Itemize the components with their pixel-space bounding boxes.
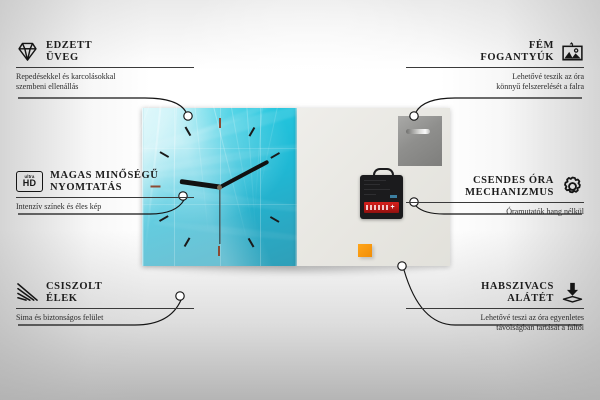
feature-subtitle-line2: távolságban tartását a faltól xyxy=(496,323,584,332)
picture-hanger-icon xyxy=(561,40,584,63)
feature-title-line1: MAGAS MINŐSÉGŰ xyxy=(50,170,158,181)
feature-metal-handles: FÉM FOGANTYÚK Lehetővé teszik az óra kön… xyxy=(406,40,584,92)
feature-foam-pad: HABSZIVACS ALÁTÉT Lehetővé teszi az óra … xyxy=(406,281,584,333)
feature-subtitle-line1: Lehetővé teszik az óra xyxy=(512,72,584,81)
metal-hanger-plate xyxy=(398,116,442,166)
feature-polished-edges: CSISZOLT ÉLEK Sima és biztonságos felüle… xyxy=(16,281,194,323)
feature-title-line2: MECHANIZMUS xyxy=(465,187,554,198)
feature-title-line1: EDZETT xyxy=(46,40,92,51)
feature-divider xyxy=(406,308,584,309)
feature-subtitle-line1: Óramutatók hang nélkül xyxy=(506,207,584,216)
feature-subtitle-line2: szembeni ellenállás xyxy=(16,82,78,91)
hanger-slot xyxy=(406,129,430,134)
badge-text-large: HD xyxy=(23,179,37,189)
battery: + xyxy=(364,202,399,213)
feature-title-line1: FÉM xyxy=(529,40,554,51)
feature-title-line1: HABSZIVACS xyxy=(481,281,554,292)
feature-quiet-mechanism: CSENDES ÓRA MECHANIZMUS Óramutatók hang … xyxy=(406,175,584,217)
feature-subtitle-line1: Intenzív színek és éles kép xyxy=(16,202,101,211)
foam-pad xyxy=(358,244,372,257)
feature-title-line2: ÜVEG xyxy=(46,52,79,63)
diamond-icon xyxy=(16,40,39,63)
feature-subtitle-line1: Lehetővé teszi az óra egyenletes xyxy=(481,313,585,322)
clock-center-cap xyxy=(217,185,222,190)
clock-sec-hand xyxy=(219,187,220,244)
feature-title-line2: ALÁTÉT xyxy=(507,293,554,304)
gear-icon xyxy=(561,175,584,198)
ultra-hd-badge-icon: ultra HD xyxy=(16,171,43,192)
foam-pad-arrow-icon xyxy=(561,281,584,304)
feature-subtitle-line1: Sima és biztonságos felület xyxy=(16,313,103,322)
feature-divider xyxy=(16,308,194,309)
feature-divider xyxy=(406,202,584,203)
feature-subtitle-line1: Repedésekkel és karcolásokkal xyxy=(16,72,116,81)
feature-tempered-glass: EDZETT ÜVEG Repedésekkel és karcolásokka… xyxy=(16,40,194,92)
clock-mechanism-box: + xyxy=(360,175,403,219)
feature-title-line1: CSISZOLT xyxy=(46,281,102,292)
feature-title-line1: CSENDES ÓRA xyxy=(473,175,554,186)
feature-high-quality-print: ultra HD MAGAS MINŐSÉGŰ NYOMTATÁS Intenz… xyxy=(16,170,194,212)
feature-title-line2: ÉLEK xyxy=(46,293,78,304)
feature-title-line2: NYOMTATÁS xyxy=(50,182,122,193)
feature-divider xyxy=(16,67,194,68)
clock-tick xyxy=(219,118,220,187)
feature-title-line2: FOGANTYÚK xyxy=(480,52,554,63)
infographic-canvas: + xyxy=(0,0,600,400)
feature-subtitle-line2: könnyű felszerelését a falra xyxy=(496,82,584,91)
feature-divider xyxy=(16,197,194,198)
battery-plus-label: + xyxy=(389,204,396,211)
feature-divider xyxy=(406,67,584,68)
polished-edge-icon xyxy=(16,281,39,304)
